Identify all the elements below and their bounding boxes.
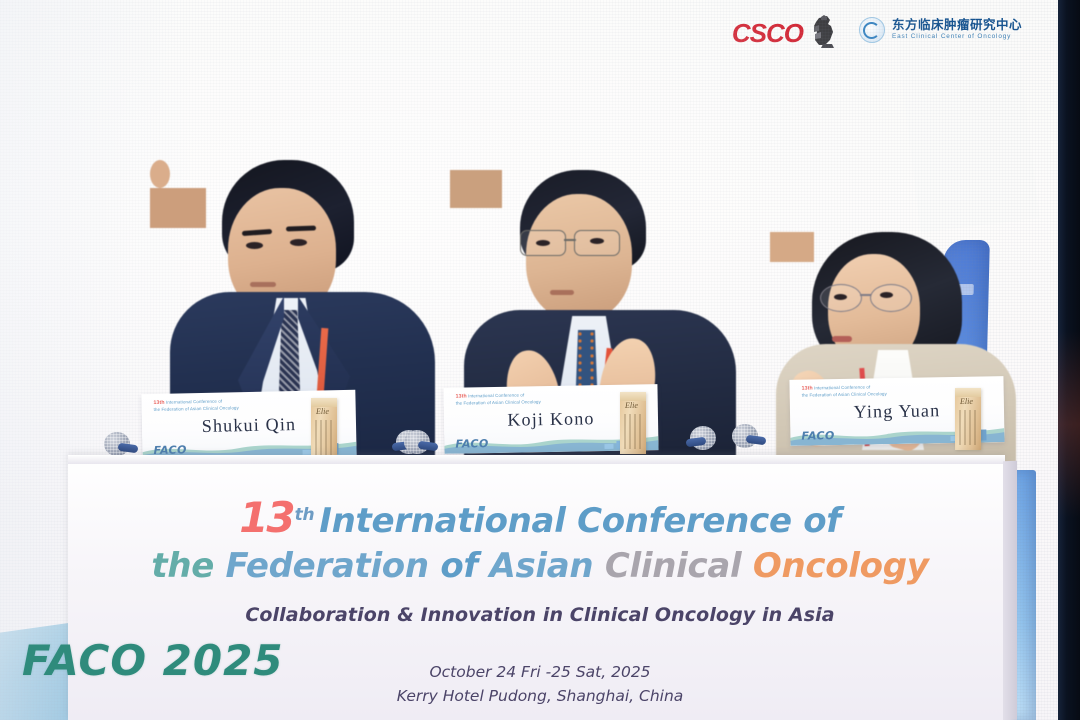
csco-wordmark: CSCO: [732, 20, 803, 46]
ecco-chinese-name: 东方临床肿瘤研究中心: [892, 19, 1022, 32]
beverage-carton-2: Elie: [620, 392, 646, 454]
qin-eye-right: [290, 239, 307, 246]
beverage-carton-1: Elie: [311, 398, 337, 460]
kono-neck: [450, 170, 502, 208]
yuan-eye-right: [880, 292, 893, 298]
microphone-5: [732, 424, 762, 450]
title-edition-number: 13: [239, 493, 293, 542]
microphone-3: [404, 430, 434, 456]
beverage-carton-3: Elie: [955, 388, 981, 450]
placard-faco-logo-3: FACO: [801, 429, 835, 443]
room-dark-edge: [1058, 0, 1080, 720]
yuan-mouth: [832, 336, 852, 342]
title-line-1-rest: International Conference of: [319, 501, 841, 541]
title-line-1: 13thInternational Conference of: [0, 492, 1080, 545]
kono-face: [526, 194, 632, 320]
qin-mouth: [250, 282, 276, 287]
ecco-english-name: East Clinical Center of Oncology: [892, 34, 1022, 41]
placard-header-3: 13th International Conference of the Fed…: [802, 384, 887, 397]
qin-brow-right: [286, 225, 316, 231]
qin-ear: [150, 160, 170, 188]
faco-wordmark: FACO 2025: [22, 636, 284, 685]
placard-header-2: 13th International Conference of the Fed…: [456, 392, 541, 405]
title-line-2: the Federation of Asian Clinical Oncolog…: [0, 545, 1080, 588]
great-wall-icon: [797, 14, 837, 48]
east-clinical-center-logo: 东方临床肿瘤研究中心 East Clinical Center of Oncol…: [859, 17, 1022, 43]
sponsor-logo-row: CSCO 东方临床肿瘤研究中心 East Clinical Center of …: [732, 14, 1022, 46]
kono-mouth: [550, 290, 574, 295]
qin-neck: [150, 188, 206, 228]
table-top-edge: [68, 455, 1005, 464]
title-edition-ordinal: th: [295, 505, 315, 525]
kono-eye-right: [590, 238, 604, 244]
conference-subtitle: Collaboration & Innovation in Clinical O…: [0, 604, 1080, 626]
csco-logo: CSCO: [732, 14, 837, 46]
placard-header-1: 13th International Conference of the Fed…: [153, 398, 238, 412]
kono-eye-left: [536, 240, 550, 246]
circular-c-logo-icon: [859, 17, 885, 43]
yuan-neck: [770, 232, 814, 262]
yuan-eye-left: [834, 294, 847, 300]
qin-eye-left: [246, 242, 263, 249]
microphone-4: [690, 426, 720, 452]
conference-venue: Kerry Hotel Pudong, Shanghai, China: [0, 684, 1080, 708]
placard-faco-logo-2: FACO: [455, 437, 489, 451]
conference-stage-photo: CSCO 东方临床肿瘤研究中心 East Clinical Center of …: [0, 0, 1080, 720]
